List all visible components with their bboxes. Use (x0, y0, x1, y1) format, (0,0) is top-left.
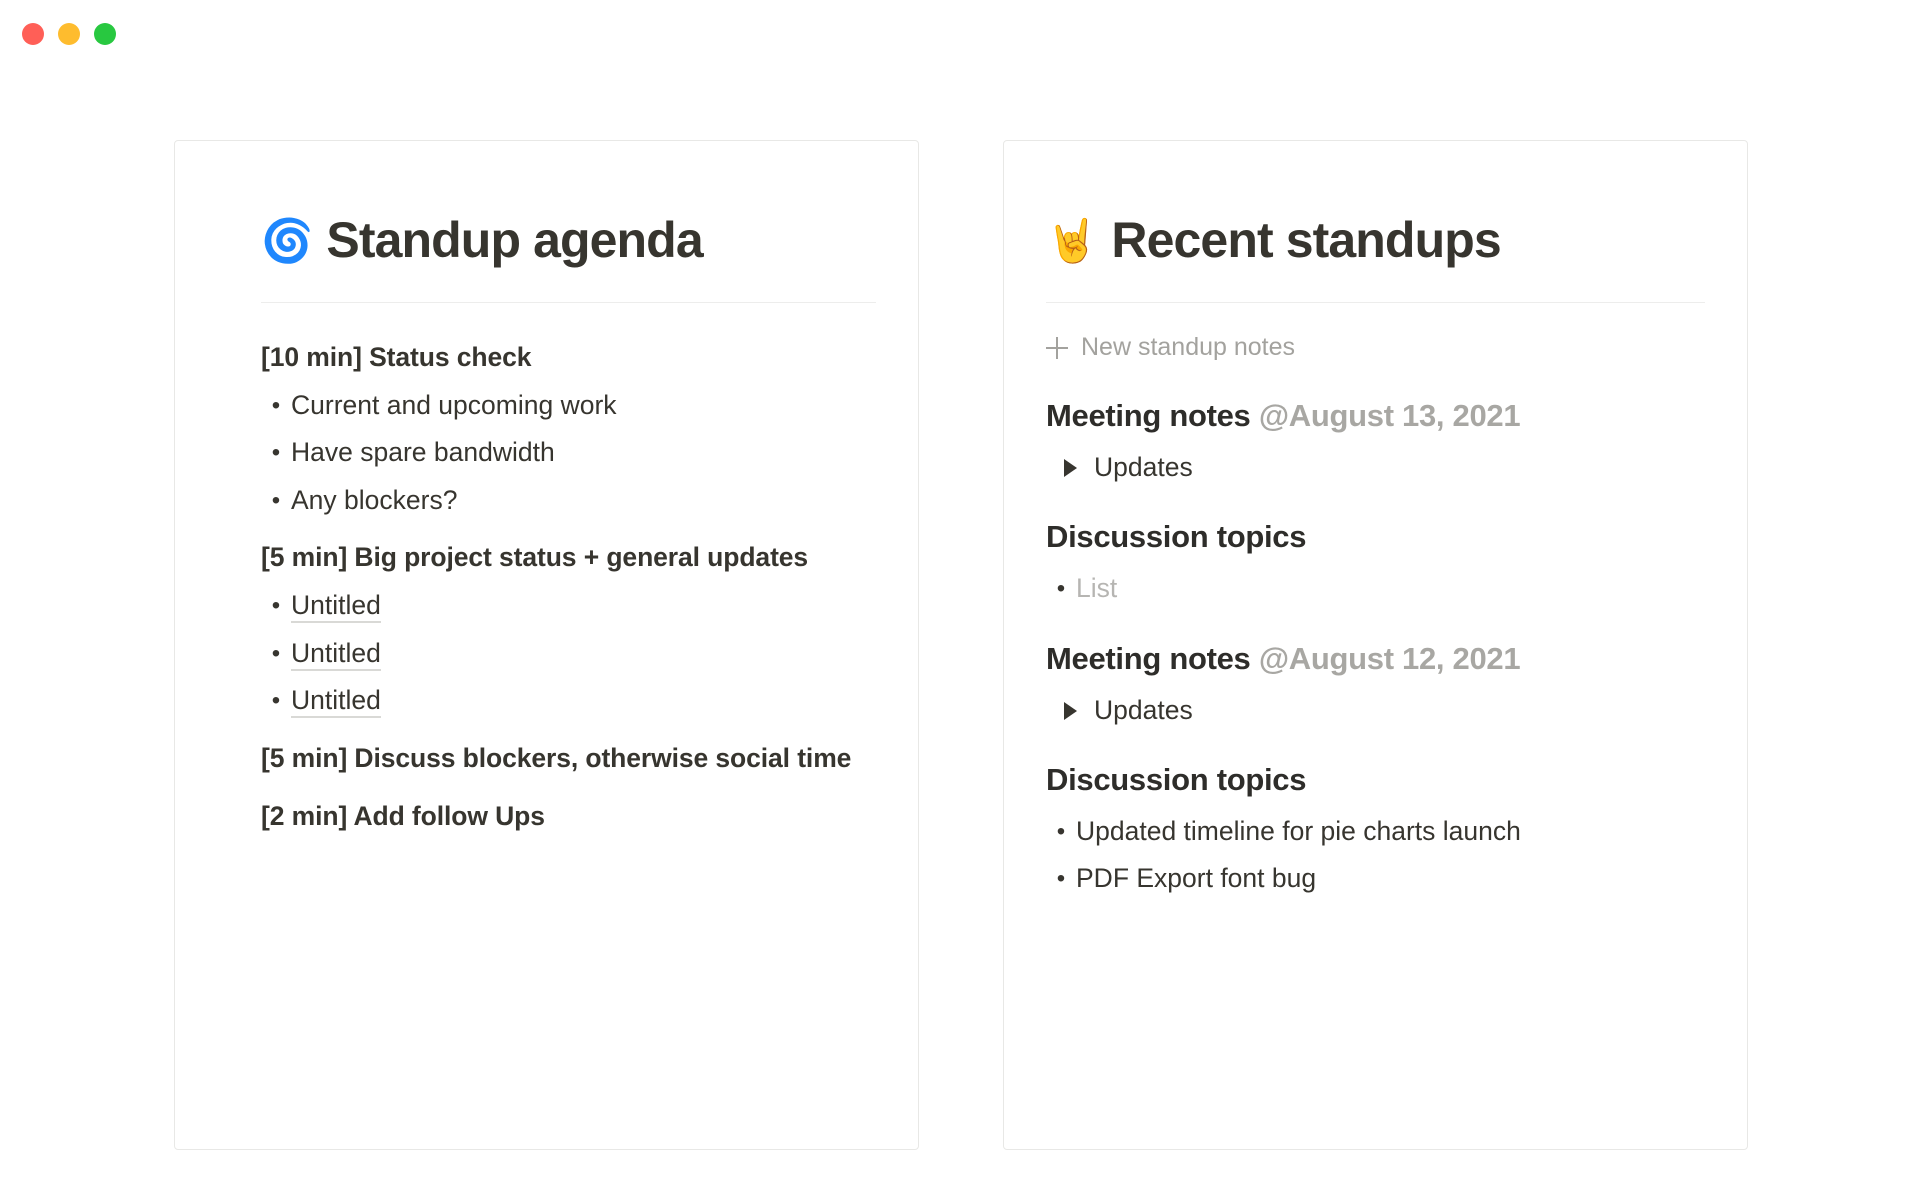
chevron-right-icon[interactable] (1064, 459, 1077, 477)
page-title: 🤘 Recent standups (1046, 213, 1705, 268)
toggle-label: Updates (1094, 452, 1193, 483)
list-item[interactable]: • Any blockers? (261, 483, 876, 517)
toggle-updates[interactable]: Updates (1064, 452, 1705, 483)
list-item-label: Untitled (291, 683, 876, 717)
bullet-icon: • (261, 388, 291, 421)
list-item[interactable]: • Untitled (261, 683, 876, 717)
list-item[interactable]: • Have spare bandwidth (261, 435, 876, 469)
page-title-text: Recent standups (1111, 213, 1500, 268)
bullet-icon: • (1046, 571, 1076, 604)
cyclone-icon: 🌀 (261, 220, 312, 262)
page-link-untitled[interactable]: Untitled (291, 685, 381, 718)
bullet-icon: • (261, 588, 291, 621)
list-item-label: Updated timeline for pie charts launch (1076, 814, 1705, 848)
standup-note-entry: Meeting notes @August 12, 2021 Updates D… (1046, 639, 1705, 895)
list-item[interactable]: • Current and upcoming work (261, 388, 876, 422)
window-traffic-lights (22, 23, 116, 45)
bullet-icon: • (1046, 861, 1076, 894)
page-title: 🌀 Standup agenda (217, 213, 876, 268)
window-maximize-button[interactable] (94, 23, 116, 45)
agenda-heading: [5 min] Big project status + general upd… (261, 539, 876, 575)
discussion-topics-heading: Discussion topics (1046, 760, 1705, 800)
agenda-heading: [10 min] Status check (261, 339, 876, 375)
window-close-button[interactable] (22, 23, 44, 45)
agenda-heading: [2 min] Add follow Ups (261, 798, 876, 834)
title-divider (1046, 302, 1705, 303)
bullet-icon: • (1046, 814, 1076, 847)
note-title[interactable]: Meeting notes @August 13, 2021 (1046, 396, 1705, 436)
bullet-icon: • (261, 683, 291, 716)
bullet-icon: • (261, 636, 291, 669)
agenda-heading: [5 min] Discuss blockers, otherwise soci… (261, 740, 876, 776)
list-item-label: Untitled (291, 636, 876, 670)
list-item-label: List (1076, 571, 1705, 605)
toggle-updates[interactable]: Updates (1064, 695, 1705, 726)
list-item-label: Have spare bandwidth (291, 435, 876, 469)
list-item[interactable]: • PDF Export font bug (1046, 861, 1705, 895)
bullet-icon: • (261, 435, 291, 468)
note-title-text: Meeting notes (1046, 641, 1251, 676)
discussion-topics-heading: Discussion topics (1046, 517, 1705, 557)
list-item[interactable]: • List (1046, 571, 1705, 605)
note-date-mention[interactable]: @August 13, 2021 (1259, 398, 1520, 433)
note-title[interactable]: Meeting notes @August 12, 2021 (1046, 639, 1705, 679)
agenda-content: [10 min] Status check • Current and upco… (217, 303, 876, 834)
standup-agenda-panel: 🌀 Standup agenda [10 min] Status check •… (174, 140, 919, 1150)
sign-of-the-horns-icon: 🤘 (1046, 220, 1097, 262)
list-item-label: Untitled (291, 588, 876, 622)
new-standup-notes-button[interactable]: New standup notes (1046, 333, 1705, 362)
page-link-untitled[interactable]: Untitled (291, 590, 381, 623)
list-item[interactable]: • Untitled (261, 588, 876, 622)
window-minimize-button[interactable] (58, 23, 80, 45)
list-item-label: Any blockers? (291, 483, 876, 517)
page-title-text: Standup agenda (326, 213, 702, 268)
list-item[interactable]: • Untitled (261, 636, 876, 670)
new-standup-notes-label: New standup notes (1081, 333, 1295, 362)
recent-standups-panel: 🤘 Recent standups New standup notes Meet… (1003, 140, 1748, 1150)
standup-note-entry: Meeting notes @August 13, 2021 Updates D… (1046, 396, 1705, 605)
page-link-untitled[interactable]: Untitled (291, 638, 381, 671)
note-date-mention[interactable]: @August 12, 2021 (1259, 641, 1520, 676)
toggle-label: Updates (1094, 695, 1193, 726)
board: 🌀 Standup agenda [10 min] Status check •… (0, 140, 1920, 1150)
chevron-right-icon[interactable] (1064, 702, 1077, 720)
window-titlebar (0, 0, 1920, 74)
note-title-text: Meeting notes (1046, 398, 1251, 433)
list-item-label: Current and upcoming work (291, 388, 876, 422)
list-item-label: PDF Export font bug (1076, 861, 1705, 895)
plus-icon (1046, 337, 1068, 359)
list-item[interactable]: • Updated timeline for pie charts launch (1046, 814, 1705, 848)
bullet-icon: • (261, 483, 291, 516)
